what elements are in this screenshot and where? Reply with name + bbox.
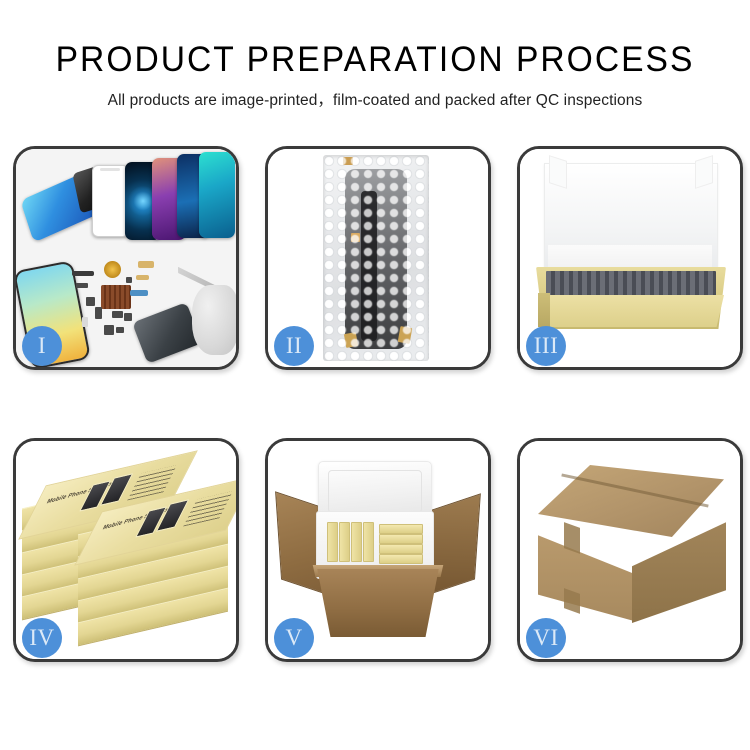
step-card-4[interactable]: Mobile Phone Spare Parts Mobile Phone Sp… <box>13 438 239 662</box>
phone-screen-blue-lying-icon <box>20 171 99 242</box>
bubble-bag-icon <box>323 155 429 361</box>
step-badge-6: VI <box>526 618 566 658</box>
step-badge-3: III <box>526 326 566 366</box>
logic-board-icon <box>101 285 131 309</box>
page-subtitle: All products are image-printed，film-coat… <box>0 80 750 111</box>
flex-cable-1-icon <box>138 261 154 268</box>
component-2-icon <box>95 307 102 319</box>
hand-icon <box>192 285 236 355</box>
carton-body-icon <box>312 569 444 637</box>
process-steps-grid: I II <box>13 146 737 656</box>
step-card-3[interactable]: III <box>517 146 743 370</box>
yellow-box-side-icon <box>538 293 550 327</box>
component-9-icon <box>126 277 132 283</box>
step-card-1[interactable]: I <box>13 146 239 370</box>
bubble-wrapped-contents-icon <box>546 271 716 297</box>
speaker-coil-icon <box>104 261 121 278</box>
inner-box-v-2 <box>339 522 350 562</box>
lid-flap-right-icon <box>695 155 713 189</box>
earpiece-bar-icon <box>72 271 94 276</box>
component-5-icon <box>82 317 88 327</box>
step-card-2[interactable]: II <box>265 146 491 370</box>
step-badge-5: V <box>274 618 314 658</box>
lid-flap-left-icon <box>549 155 567 189</box>
step-badge-2: II <box>274 326 314 366</box>
inner-box-h-4 <box>379 554 423 564</box>
page-title: PRODUCT PREPARATION PROCESS <box>15 0 735 80</box>
flex-cable-2-icon <box>136 275 149 280</box>
inner-box-h-3 <box>379 544 423 554</box>
component-3-icon <box>112 311 123 318</box>
box-spec-lines-front <box>183 491 233 527</box>
inner-box-v-1 <box>327 522 338 562</box>
component-8-icon <box>76 283 88 288</box>
inner-box-v-4 <box>363 522 374 562</box>
tempered-glass-icon <box>92 165 129 237</box>
page-header: PRODUCT PREPARATION PROCESS All products… <box>0 0 750 111</box>
step-badge-4: IV <box>22 618 62 658</box>
component-4-icon <box>124 313 132 321</box>
step-badge-1: I <box>22 326 62 366</box>
carton-tape-upper-icon <box>564 522 580 554</box>
inner-box-h-2 <box>379 534 423 544</box>
component-7-icon <box>116 327 124 333</box>
step-card-6[interactable]: VI <box>517 438 743 662</box>
step-card-5[interactable]: V <box>265 438 491 662</box>
flex-cable-3-icon <box>130 290 148 296</box>
component-6-icon <box>104 325 114 335</box>
phone-screen-teal-icon <box>199 152 235 238</box>
inner-box-v-3 <box>351 522 362 562</box>
component-1-icon <box>86 297 95 306</box>
inner-box-h-1 <box>379 524 423 534</box>
yellow-box-front-icon <box>538 295 724 327</box>
bubble-texture-overlay <box>323 155 429 361</box>
